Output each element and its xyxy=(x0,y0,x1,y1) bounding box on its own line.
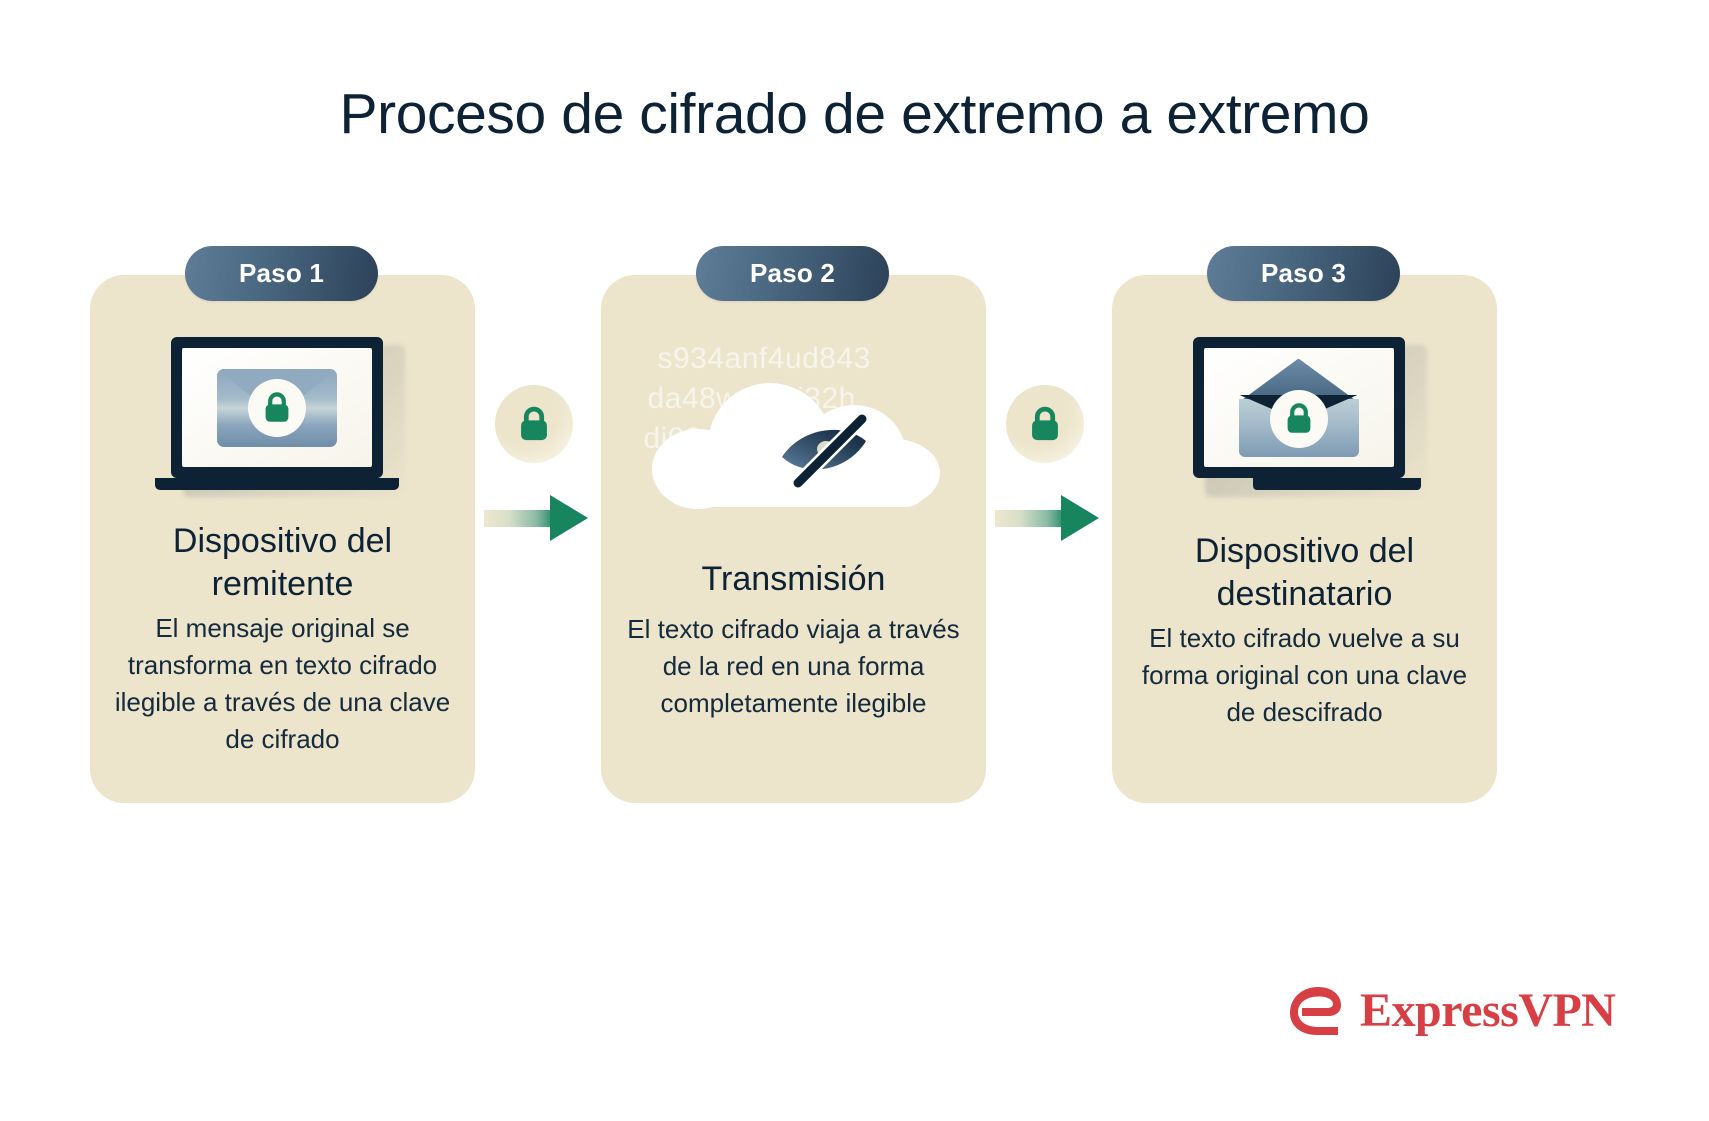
arrow-shaft xyxy=(484,510,556,527)
laptop-base xyxy=(1253,478,1421,490)
steps-row: Paso 1 xyxy=(0,275,1709,855)
step-3-body: El texto cifrado vuelve a su forma origi… xyxy=(1132,620,1477,731)
laptop-icon xyxy=(1193,337,1417,497)
open-envelope-icon xyxy=(1236,359,1362,457)
cipher-line-1: s934anf4ud843 xyxy=(658,339,944,379)
step-2-heading: Transmisión xyxy=(617,558,970,601)
step-badge-1: Paso 1 xyxy=(185,246,378,301)
padlock-icon xyxy=(517,405,551,444)
connector-1 xyxy=(484,275,614,535)
step-badge-3: Paso 3 xyxy=(1207,246,1400,301)
laptop-icon xyxy=(171,337,395,497)
lock-disc-3 xyxy=(1270,390,1328,448)
step-badge-2: Paso 2 xyxy=(696,246,889,301)
step-card-3: Paso 3 xyxy=(1112,275,1497,803)
step-1-heading: Dispositivo del remitente xyxy=(106,520,459,606)
step-2-illustration: s934anf4ud843 da48waid4j32h dj02s43h xyxy=(601,331,986,519)
connector-1-lock-badge xyxy=(495,385,573,463)
expressvpn-e-mark-icon xyxy=(1288,985,1344,1037)
connector-2-arrow-right-icon xyxy=(995,495,1105,541)
connector-2 xyxy=(995,275,1125,535)
connector-1-arrow-right-icon xyxy=(484,495,594,541)
step-1-illustration xyxy=(90,331,475,519)
cloud-icon xyxy=(652,383,940,507)
laptop-screen xyxy=(1204,348,1394,467)
step-card-2: Paso 2 s934anf4ud843 da48waid4j32h dj02s… xyxy=(601,275,986,803)
laptop-base xyxy=(155,478,399,490)
arrow-head xyxy=(1061,495,1099,541)
laptop-screen xyxy=(182,348,372,467)
step-2-body: El texto cifrado viaja a través de la re… xyxy=(621,611,966,722)
step-1-body: El mensaje original se transforma en tex… xyxy=(110,610,455,758)
arrow-head xyxy=(550,495,588,541)
padlock-icon xyxy=(1284,402,1314,436)
cloud-group: s934anf4ud843 da48waid4j32h dj02s43h xyxy=(644,337,944,513)
padlock-icon xyxy=(1028,405,1062,444)
padlock-icon xyxy=(262,391,292,425)
page-title: Proceso de cifrado de extremo a extremo xyxy=(0,82,1709,148)
lock-disc-1 xyxy=(248,379,306,437)
step-3-heading: Dispositivo del destinatario xyxy=(1128,530,1481,616)
step-3-illustration xyxy=(1112,331,1497,519)
eye-slash-icon xyxy=(776,411,880,491)
step-card-1: Paso 1 xyxy=(90,275,475,803)
expressvpn-logo-text: ExpressVPN xyxy=(1360,987,1615,1035)
expressvpn-logo: ExpressVPN xyxy=(1288,985,1615,1037)
connector-2-lock-badge xyxy=(1006,385,1084,463)
laptop-body xyxy=(1193,337,1405,478)
arrow-shaft xyxy=(995,510,1067,527)
laptop-body xyxy=(171,337,383,478)
